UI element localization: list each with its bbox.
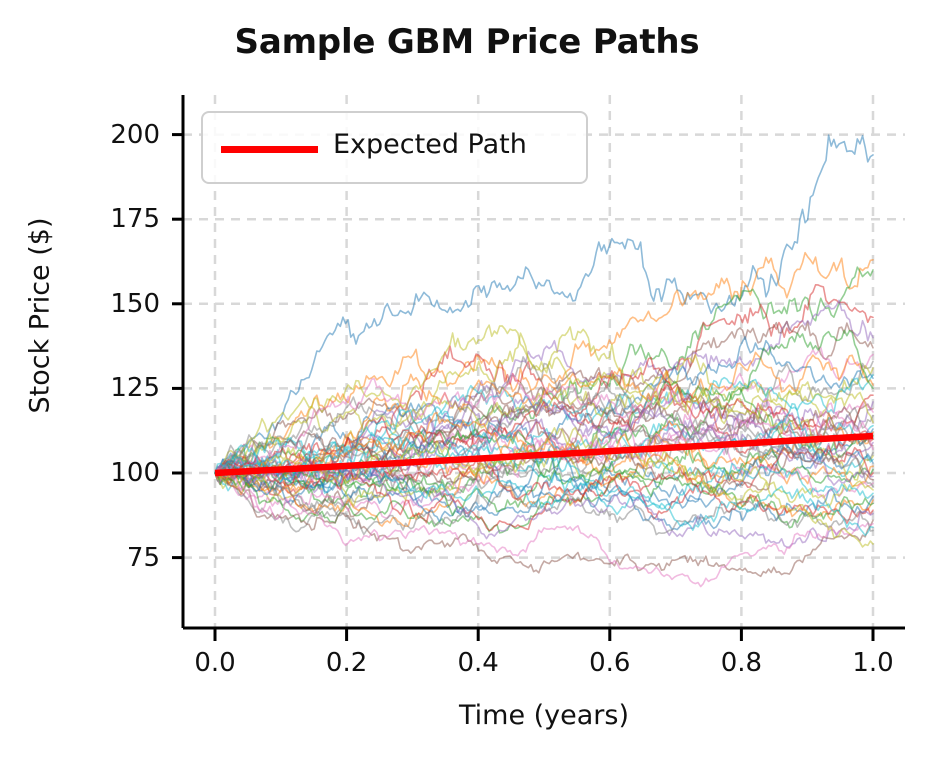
legend-swatch-expected-path [221, 146, 318, 153]
x-tick-label: 0.4 [418, 648, 538, 678]
y-tick-label: 100 [60, 458, 160, 488]
chart-figure: Sample GBM Price Paths Stock Price ($) T… [0, 0, 934, 784]
y-tick-label: 175 [60, 204, 160, 234]
x-tick-label: 1.0 [813, 648, 933, 678]
gbm-sample-paths [215, 135, 873, 586]
x-tick-label: 0.2 [287, 648, 407, 678]
x-tick-label: 0.6 [550, 648, 670, 678]
y-tick-label: 125 [60, 373, 160, 403]
chart-legend: Expected Path [201, 111, 588, 184]
y-tick-label: 200 [60, 120, 160, 150]
y-tick-label: 75 [60, 543, 160, 573]
legend-label-expected-path: Expected Path [333, 129, 527, 160]
x-tick-label: 0.8 [681, 648, 801, 678]
y-tick-label: 150 [60, 289, 160, 319]
x-tick-label: 0.0 [155, 648, 275, 678]
